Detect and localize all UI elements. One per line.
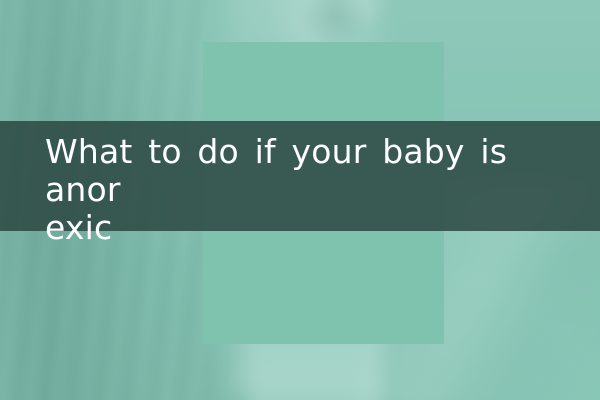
article-title-card: What to do if your baby is anor exic: [0, 0, 600, 400]
article-title: What to do if your baby is anor exic: [45, 133, 580, 247]
